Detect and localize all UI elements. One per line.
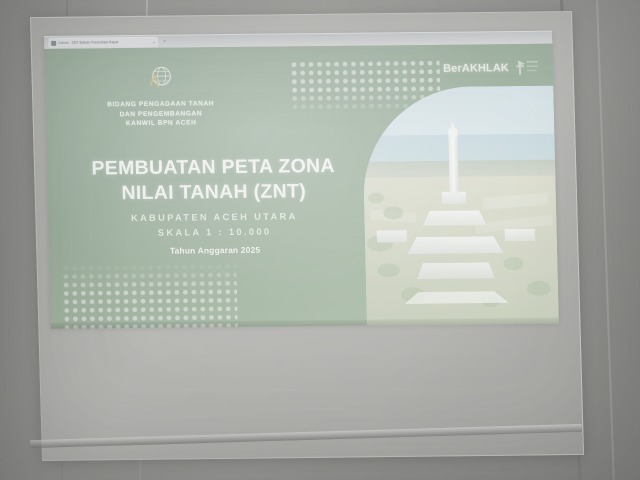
presentation-slide: BIDANG PENGADAAN TANAH DAN PENGEMBANGAN … [44,44,559,329]
browser-tab-title: Canva - ZNT Bahan Presentasi Rapat [58,40,119,46]
page-title-line-2: NILAI TANAH (ZNT) [63,179,364,207]
new-tab-button[interactable]: + [163,39,166,45]
slide-photo [361,86,559,326]
canva-favicon-icon [51,40,56,45]
photo-projection-haze [361,86,559,326]
close-icon[interactable]: × [153,39,155,44]
bpn-globe-wheat-emblem-icon [144,62,177,94]
browser-tab[interactable]: Canva - ZNT Bahan Presentasi Rapat × [48,37,158,48]
tab-strip-empty-area [166,38,552,42]
browser-window: Canva - ZNT Bahan Presentasi Rapat × + [44,31,559,328]
page-title-line-1: PEMBUATAN PETA ZONA [63,154,364,182]
wall-edge-right-outer [596,0,615,480]
dot-grid-pattern-bottom [61,262,238,329]
berakhlak-logo-icon [513,58,539,78]
berakhlak-label: BerAKHLAK [443,62,509,75]
aerial-mosque-photo [361,86,559,326]
org-line-3: KANWIL BPN ACEH [66,118,256,130]
slide-title-block: PEMBUATAN PETA ZONA NILAI TANAH (ZNT) KA… [63,154,365,259]
subtitle-budget-year: Tahun Anggaran 2025 [65,242,365,259]
slide-header: BIDANG PENGADAAN TANAH DAN PENGEMBANGAN … [65,61,257,130]
berakhlak-brand: BerAKHLAK [443,58,539,79]
organization-name: BIDANG PENGADAAN TANAH DAN PENGEMBANGAN … [66,99,257,130]
subtitle-scale: SKALA 1 : 10.000 [65,224,365,241]
